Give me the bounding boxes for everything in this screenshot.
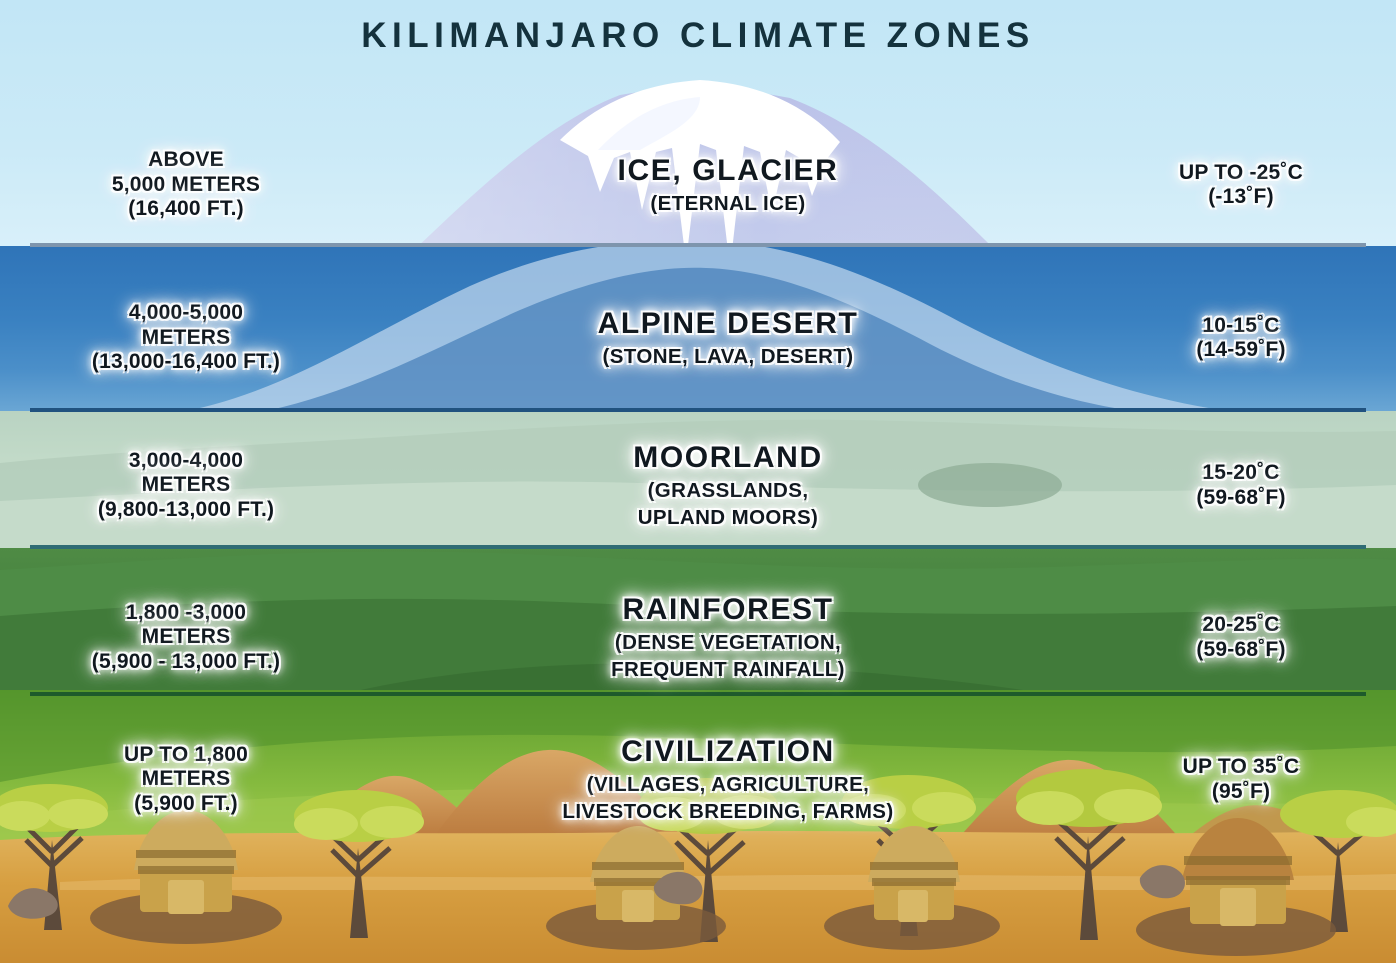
zone-description-line: (STONE, LAVA, DESERT) [360,345,1096,369]
zone-altitude-alpine-desert: 4,000-5,000 METERS (13,000-16,400 FT.) [0,301,360,374]
zone-title: ALPINE DESERT [360,307,1096,342]
zone-temperature-rainforest: 20-25˚C (59-68˚F) [1096,613,1396,662]
zone-description-line: (DENSE VEGETATION, [360,631,1096,655]
zone-description-line: FREQUENT RAINFALL) [360,658,1096,682]
altitude-line: 4,000-5,000 [12,301,360,325]
zone-row-moorland: 3,000-4,000 METERS (9,800-13,000 FT.) MO… [0,428,1396,543]
zone-description-line: (GRASSLANDS, [360,479,1096,503]
altitude-line: METERS [12,625,360,649]
zone-description-line: (ETERNAL ICE) [360,192,1096,216]
zone-info-moorland: MOORLAND (GRASSLANDS, UPLAND MOORS) [360,441,1096,529]
zone-info-civilization: CIVILIZATION (VILLAGES, AGRICULTURE, LIV… [360,735,1096,823]
zone-title: ICE, GLACIER [360,154,1096,189]
zone-description-line: LIVESTOCK BREEDING, FARMS) [360,800,1096,824]
zone-row-rainforest: 1,800 -3,000 METERS (5,900 - 13,000 FT.)… [0,580,1396,695]
temperature-line: (59-68˚F) [1096,638,1386,662]
zone-altitude-civilization: UP TO 1,800 METERS (5,900 FT.) [0,743,360,816]
zone-info-rainforest: RAINFOREST (DENSE VEGETATION, FREQUENT R… [360,593,1096,681]
page-title: KILIMANJARO CLIMATE ZONES [0,16,1396,56]
temperature-line: UP TO 35˚C [1096,755,1386,779]
temperature-line: 10-15˚C [1096,314,1386,338]
altitude-line: 3,000-4,000 [12,449,360,473]
temperature-line: (14-59˚F) [1096,338,1386,362]
altitude-line: METERS [12,326,360,350]
altitude-line: (9,800-13,000 FT.) [12,498,360,522]
altitude-line: 1,800 -3,000 [12,601,360,625]
altitude-line: (5,900 - 13,000 FT.) [12,650,360,674]
temperature-line: UP TO -25˚C [1096,161,1386,185]
altitude-line: ABOVE [12,148,360,172]
zone-altitude-ice-glacier: ABOVE 5,000 METERS (16,400 FT.) [0,148,360,221]
zone-info-alpine-desert: ALPINE DESERT (STONE, LAVA, DESERT) [360,307,1096,369]
altitude-line: 5,000 METERS [12,173,360,197]
zone-title: RAINFOREST [360,593,1096,628]
altitude-line: (16,400 FT.) [12,197,360,221]
temperature-line: 20-25˚C [1096,613,1386,637]
temperature-line: 15-20˚C [1096,461,1386,485]
altitude-line: METERS [12,767,360,791]
zone-row-alpine-desert: 4,000-5,000 METERS (13,000-16,400 FT.) A… [0,283,1396,393]
zone-temperature-alpine-desert: 10-15˚C (14-59˚F) [1096,314,1396,363]
temperature-line: (59-68˚F) [1096,486,1386,510]
temperature-line: (-13˚F) [1096,185,1386,209]
zone-altitude-moorland: 3,000-4,000 METERS (9,800-13,000 FT.) [0,449,360,522]
zone-title: MOORLAND [360,441,1096,476]
zone-description-line: (VILLAGES, AGRICULTURE, [360,773,1096,797]
temperature-line: (95˚F) [1096,780,1386,804]
infographic-kilimanjaro-climate-zones: ABOVE 5,000 METERS (16,400 FT.) ICE, GLA… [0,0,1396,963]
zone-temperature-ice-glacier: UP TO -25˚C (-13˚F) [1096,161,1396,210]
zone-row-ice-glacier: ABOVE 5,000 METERS (16,400 FT.) ICE, GLA… [0,130,1396,240]
zone-temperature-civilization: UP TO 35˚C (95˚F) [1096,755,1396,804]
zone-description-line: UPLAND MOORS) [360,506,1096,530]
altitude-line: (5,900 FT.) [12,792,360,816]
altitude-line: METERS [12,473,360,497]
altitude-line: UP TO 1,800 [12,743,360,767]
zone-label-layer: ABOVE 5,000 METERS (16,400 FT.) ICE, GLA… [0,0,1396,963]
zone-altitude-rainforest: 1,800 -3,000 METERS (5,900 - 13,000 FT.) [0,601,360,674]
altitude-line: (13,000-16,400 FT.) [12,350,360,374]
zone-temperature-moorland: 15-20˚C (59-68˚F) [1096,461,1396,510]
zone-title: CIVILIZATION [360,735,1096,770]
zone-row-civilization: UP TO 1,800 METERS (5,900 FT.) CIVILIZAT… [0,722,1396,837]
zone-info-ice-glacier: ICE, GLACIER (ETERNAL ICE) [360,154,1096,216]
